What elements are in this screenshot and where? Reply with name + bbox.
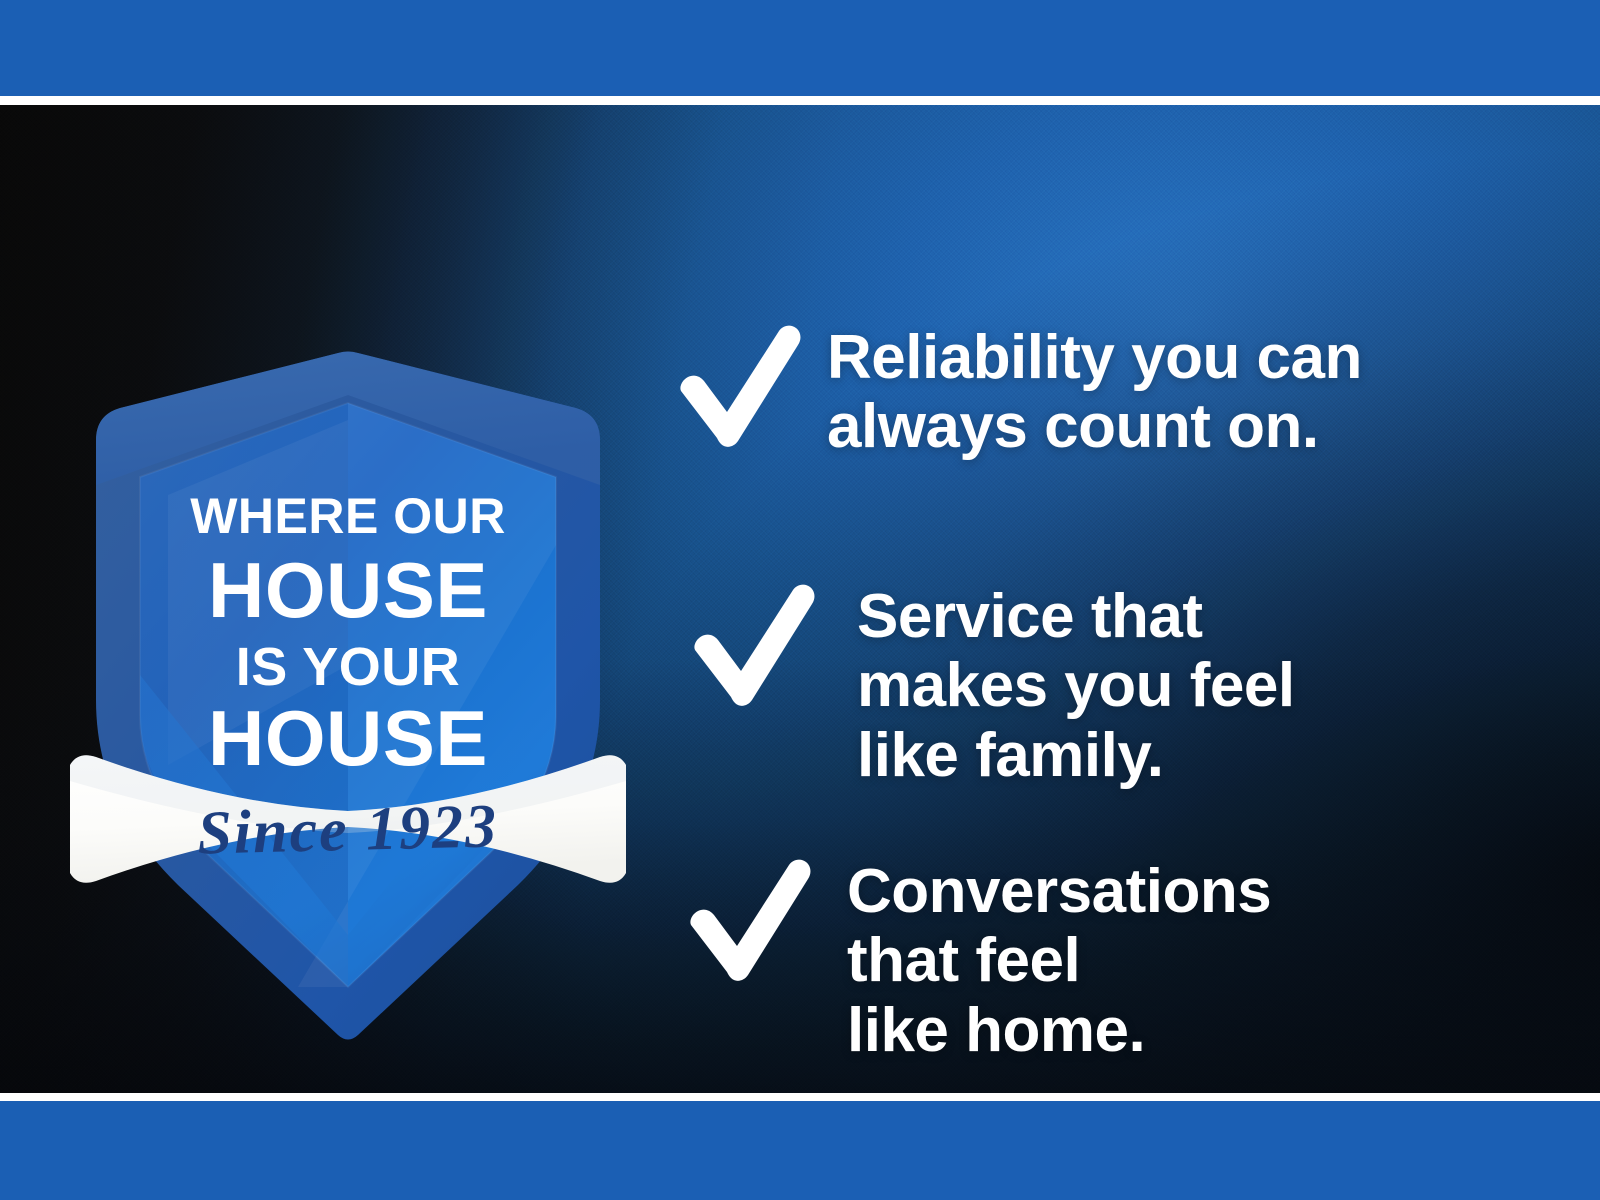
benefits-list: Reliability you canalways count on. Serv…	[675, 223, 1565, 1093]
badge-tagline-line-1: WHERE OUR	[190, 488, 506, 544]
benefit-item-service: Service thatmakes you feellike family.	[689, 578, 1295, 790]
check-icon	[685, 859, 815, 987]
benefit-item-reliability: Reliability you canalways count on.	[675, 319, 1362, 462]
badge-tagline-line-4: HOUSE	[208, 694, 488, 782]
bottom-brand-bar	[0, 1101, 1600, 1200]
promo-graphic: WHERE OUR HOUSE IS YOUR HOUSE Since 1923	[0, 0, 1600, 1200]
benefit-text: Service thatmakes you feellike family.	[857, 578, 1295, 790]
benefit-text: Conversationsthat feellike home.	[847, 853, 1271, 1065]
top-brand-bar	[0, 0, 1600, 96]
badge-tagline-line-2: HOUSE	[208, 546, 488, 634]
check-icon	[689, 584, 819, 712]
shield-badge: WHERE OUR HOUSE IS YOUR HOUSE Since 1923	[48, 245, 648, 965]
badge-ribbon-text: Since 1923	[197, 792, 499, 867]
badge-tagline-line-3: IS YOUR	[236, 637, 461, 697]
check-icon	[675, 325, 805, 453]
benefit-item-conversations: Conversationsthat feellike home.	[685, 853, 1271, 1065]
benefit-text: Reliability you canalways count on.	[827, 319, 1362, 462]
main-panel: WHERE OUR HOUSE IS YOUR HOUSE Since 1923	[0, 105, 1600, 1093]
